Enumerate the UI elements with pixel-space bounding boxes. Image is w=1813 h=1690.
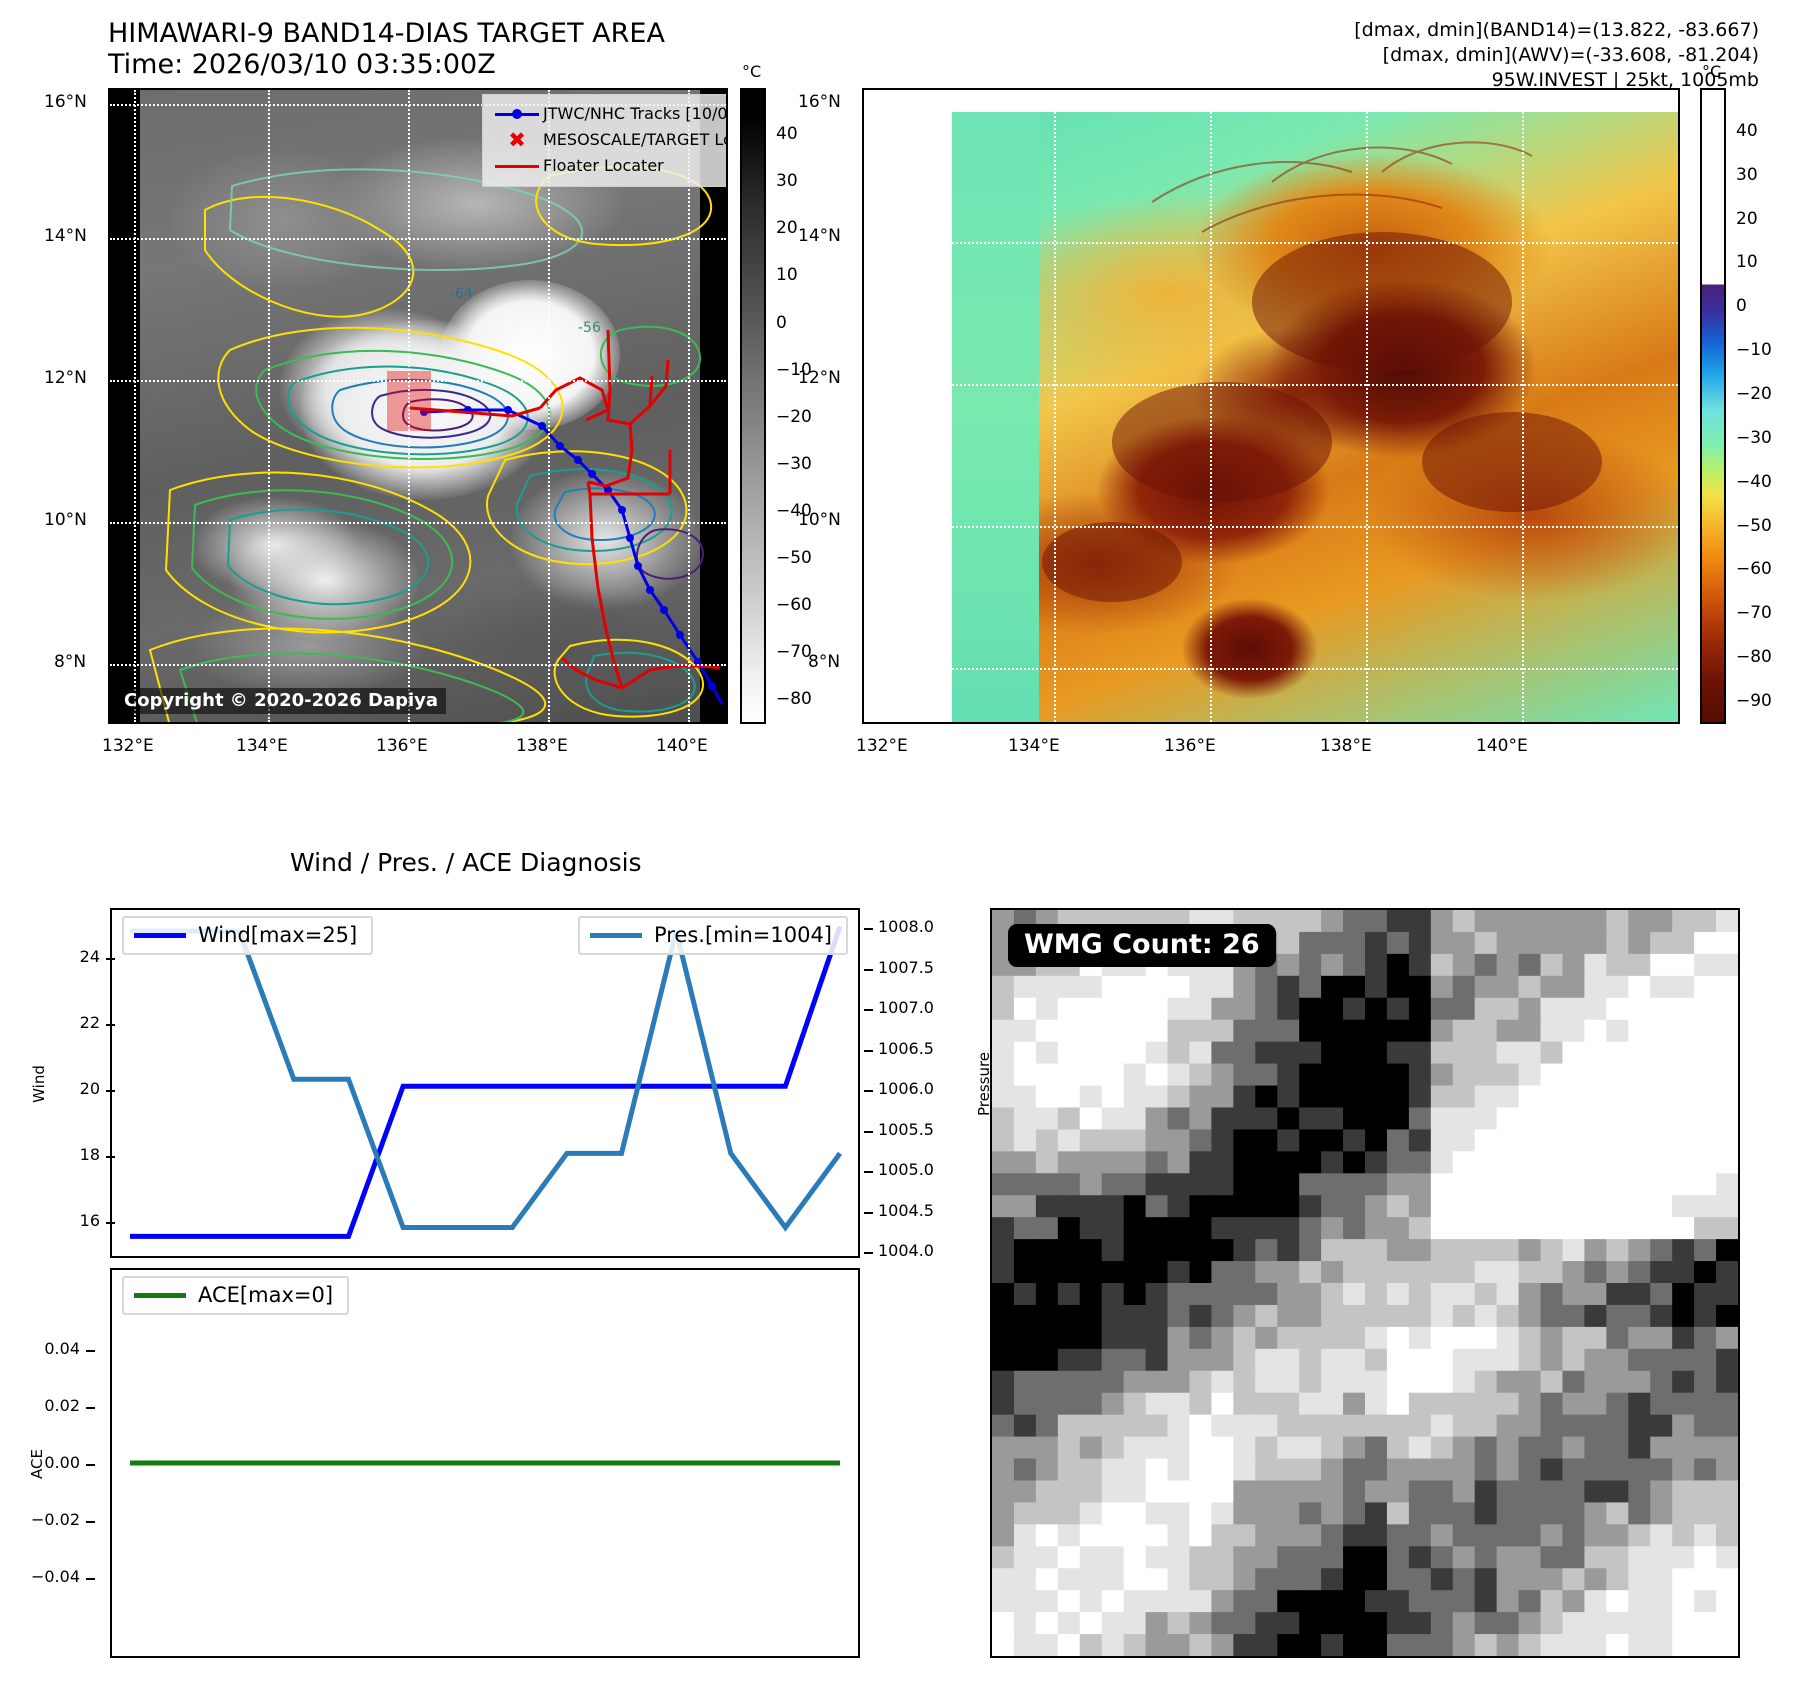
axis-tick-mark xyxy=(864,1131,873,1133)
pressure-legend[interactable]: Pres.[min=1004] xyxy=(578,916,848,955)
wmg-panel[interactable]: WMG Count: 26 xyxy=(990,908,1740,1658)
graticule-line xyxy=(952,384,1678,386)
axis-tick: 1008.0 xyxy=(878,917,934,936)
wind-series-swatch xyxy=(134,933,186,938)
diagnosis-title: Wind / Pres. / ACE Diagnosis xyxy=(290,848,642,877)
axis-tick-mark xyxy=(106,958,115,960)
colorbar-tick: 30 xyxy=(776,171,798,191)
axis-tick: 1007.0 xyxy=(878,998,934,1017)
axis-tick-mark xyxy=(864,1252,873,1254)
colorbar-tick: −10 xyxy=(1736,340,1772,360)
awv-panel[interactable] xyxy=(862,88,1680,724)
colorbar-tick: −90 xyxy=(1736,691,1772,711)
colorbar-tick: −20 xyxy=(776,407,812,427)
axis-tick-mark xyxy=(106,1222,115,1224)
axis-tick: 16 xyxy=(34,1211,100,1230)
colorbar-tick: 40 xyxy=(776,124,798,144)
axis-tick-mark xyxy=(864,1212,873,1214)
awv-lon-tick: 134°E xyxy=(1008,736,1060,756)
wmg-count-badge: WMG Count: 26 xyxy=(1008,924,1276,967)
axis-tick-mark xyxy=(864,1171,873,1173)
title-line-1: HIMAWARI-9 BAND14-DIAS TARGET AREA xyxy=(108,18,665,49)
awv-lat-tick: 10°N xyxy=(798,510,841,530)
colorbar-tick: 10 xyxy=(1736,252,1758,272)
graticule-line xyxy=(1210,112,1212,722)
graticule-line xyxy=(110,238,726,240)
awv-lat-tick: 16°N xyxy=(798,92,841,112)
awv-lat-tick: 8°N xyxy=(808,652,840,672)
ace-chart[interactable]: ACE[max=0] xyxy=(110,1268,860,1658)
axis-tick: 18 xyxy=(34,1145,100,1164)
colorbar-tick: −20 xyxy=(1736,384,1772,404)
dashboard-root: HIMAWARI-9 BAND14-DIAS TARGET AREA Time:… xyxy=(0,0,1813,1690)
axis-tick: 22 xyxy=(34,1013,100,1032)
pressure-series-swatch xyxy=(590,933,642,938)
dmax-dmin-awv: [dmax, dmin](AWV)=(-33.608, -81.204) xyxy=(1354,43,1759,68)
axis-tick-mark xyxy=(106,1156,115,1158)
graticule-line xyxy=(134,90,136,722)
contour-label-64: -64 xyxy=(450,286,473,302)
awv-cloud-texture xyxy=(952,112,1680,724)
colorbar-tick: 0 xyxy=(1736,296,1747,316)
wind-pressure-series xyxy=(112,910,858,1256)
awv-satellite-image xyxy=(952,112,1678,722)
axis-tick: 1004.5 xyxy=(878,1201,934,1220)
colorbar-tick: −40 xyxy=(1736,472,1772,492)
header-info: [dmax, dmin](BAND14)=(13.822, -83.667) [… xyxy=(1354,18,1759,93)
legend-label-tracks: JTWC/NHC Tracks [10/0000Z] xyxy=(543,101,728,127)
axis-tick-mark xyxy=(86,1350,95,1352)
graticule-line xyxy=(408,90,410,722)
legend-item-mesoscale: ✖ MESOSCALE/TARGET Location xyxy=(491,127,728,153)
ir-colorbar-unit: °C xyxy=(742,62,761,81)
colorbar-tick: −50 xyxy=(1736,516,1772,536)
wmg-pixel-map xyxy=(992,910,1738,1656)
ir-lat-tick: 12°N xyxy=(44,368,87,388)
colorbar-tick: −60 xyxy=(1736,559,1772,579)
legend-item-floater: Floater Locater xyxy=(491,153,728,179)
graticule-line xyxy=(952,668,1678,670)
ir-lon-tick: 138°E xyxy=(516,736,568,756)
pressure-legend-label: Pres.[min=1004] xyxy=(654,923,832,947)
page-title: HIMAWARI-9 BAND14-DIAS TARGET AREA Time:… xyxy=(108,18,665,80)
axis-tick-mark xyxy=(864,1009,873,1011)
colorbar-tick: 30 xyxy=(1736,165,1758,185)
x-marker-icon: ✖ xyxy=(491,130,543,151)
ir-satellite-image: -64 -56 JTWC/NHC Tracks [10/0000Z] ✖ MES… xyxy=(110,90,726,722)
axis-tick-mark xyxy=(864,969,873,971)
ace-legend-label: ACE[max=0] xyxy=(198,1283,333,1307)
ace-series xyxy=(112,1270,858,1656)
axis-tick: 0.02 xyxy=(14,1396,80,1415)
colorbar-tick: 20 xyxy=(776,218,798,238)
colorbar-tick: 40 xyxy=(1736,121,1758,141)
axis-tick-mark xyxy=(864,1050,873,1052)
awv-lat-tick: 14°N xyxy=(798,226,841,246)
axis-tick: 1006.5 xyxy=(878,1039,934,1058)
axis-tick-mark xyxy=(86,1578,95,1580)
track-line-marker-icon xyxy=(491,113,543,116)
axis-tick: −0.02 xyxy=(14,1510,80,1529)
colorbar-tick: −70 xyxy=(1736,603,1772,623)
ir-lon-tick: 140°E xyxy=(656,736,708,756)
graticule-line xyxy=(110,380,726,382)
axis-tick: 1005.0 xyxy=(878,1160,934,1179)
dmax-dmin-band14: [dmax, dmin](BAND14)=(13.822, -83.667) xyxy=(1354,18,1759,43)
awv-colorbar xyxy=(1700,88,1726,724)
graticule-line xyxy=(952,526,1678,528)
axis-tick-mark xyxy=(106,1090,115,1092)
ir-lon-tick: 132°E xyxy=(102,736,154,756)
wind-legend[interactable]: Wind[max=25] xyxy=(122,916,373,955)
contour-label-56: -56 xyxy=(578,320,601,336)
ir-lon-tick: 134°E xyxy=(236,736,288,756)
axis-tick: 0.04 xyxy=(14,1339,80,1358)
wind-pressure-chart[interactable]: Wind[max=25] Pres.[min=1004] xyxy=(110,908,860,1258)
ir-lon-tick: 136°E xyxy=(376,736,428,756)
ir-lat-tick: 16°N xyxy=(44,92,87,112)
ir-lat-tick: 10°N xyxy=(44,510,87,530)
axis-tick: 24 xyxy=(34,947,100,966)
awv-lat-tick: 12°N xyxy=(798,368,841,388)
axis-tick: 1006.0 xyxy=(878,1079,934,1098)
colorbar-tick: −50 xyxy=(776,548,812,568)
awv-lon-tick: 140°E xyxy=(1476,736,1528,756)
axis-tick-mark xyxy=(86,1464,95,1466)
colorbar-tick: −30 xyxy=(776,454,812,474)
axis-tick-mark xyxy=(86,1521,95,1523)
colorbar-tick: −80 xyxy=(776,689,812,709)
colorbar-tick: −60 xyxy=(776,595,812,615)
copyright-notice: Copyright © 2020-2026 Dapiya xyxy=(118,688,446,714)
colorbar-tick: −30 xyxy=(1736,428,1772,448)
axis-tick: −0.04 xyxy=(14,1567,80,1586)
colorbar-tick: −80 xyxy=(1736,647,1772,667)
axis-tick: 0.00 xyxy=(14,1453,80,1472)
axis-tick: 1007.5 xyxy=(878,958,934,977)
wind-legend-label: Wind[max=25] xyxy=(198,923,357,947)
awv-lon-tick: 132°E xyxy=(856,736,908,756)
legend-label-mesoscale: MESOSCALE/TARGET Location xyxy=(543,127,728,153)
axis-tick: 1005.5 xyxy=(878,1120,934,1139)
colorbar-tick: −70 xyxy=(776,642,812,662)
ir-legend[interactable]: JTWC/NHC Tracks [10/0000Z] ✖ MESOSCALE/T… xyxy=(482,94,728,187)
red-line-icon xyxy=(491,165,543,168)
colorbar-tick: 10 xyxy=(776,265,798,285)
axis-tick-mark xyxy=(86,1407,95,1409)
colorbar-tick: 20 xyxy=(1736,209,1758,229)
ir-lat-tick: 8°N xyxy=(54,652,86,672)
axis-tick-mark xyxy=(864,1090,873,1092)
ir-target-area-panel[interactable]: -64 -56 JTWC/NHC Tracks [10/0000Z] ✖ MES… xyxy=(108,88,728,724)
awv-lon-tick: 136°E xyxy=(1164,736,1216,756)
graticule-line xyxy=(952,242,1678,244)
ir-lat-tick: 14°N xyxy=(44,226,87,246)
awv-colorbar-unit: °C xyxy=(1702,62,1721,81)
wind-axis-label: Wind xyxy=(30,1065,48,1103)
title-line-2: Time: 2026/03/10 03:35:00Z xyxy=(108,49,665,80)
graticule-line xyxy=(1366,112,1368,722)
ace-series-swatch xyxy=(134,1293,186,1298)
ace-legend[interactable]: ACE[max=0] xyxy=(122,1276,349,1315)
graticule-line xyxy=(110,522,726,524)
ace-axis-label: ACE xyxy=(28,1449,46,1479)
graticule-line xyxy=(1522,112,1524,722)
colorbar-tick: 0 xyxy=(776,313,787,333)
legend-label-floater: Floater Locater xyxy=(543,153,664,179)
graticule-line xyxy=(110,664,726,666)
legend-item-tracks: JTWC/NHC Tracks [10/0000Z] xyxy=(491,101,728,127)
axis-tick-mark xyxy=(106,1024,115,1026)
axis-tick-mark xyxy=(864,928,873,930)
graticule-line xyxy=(1054,112,1056,722)
ir-colorbar xyxy=(740,88,766,724)
axis-tick: 1004.0 xyxy=(878,1241,934,1260)
awv-lon-tick: 138°E xyxy=(1320,736,1372,756)
graticule-line xyxy=(268,90,270,722)
